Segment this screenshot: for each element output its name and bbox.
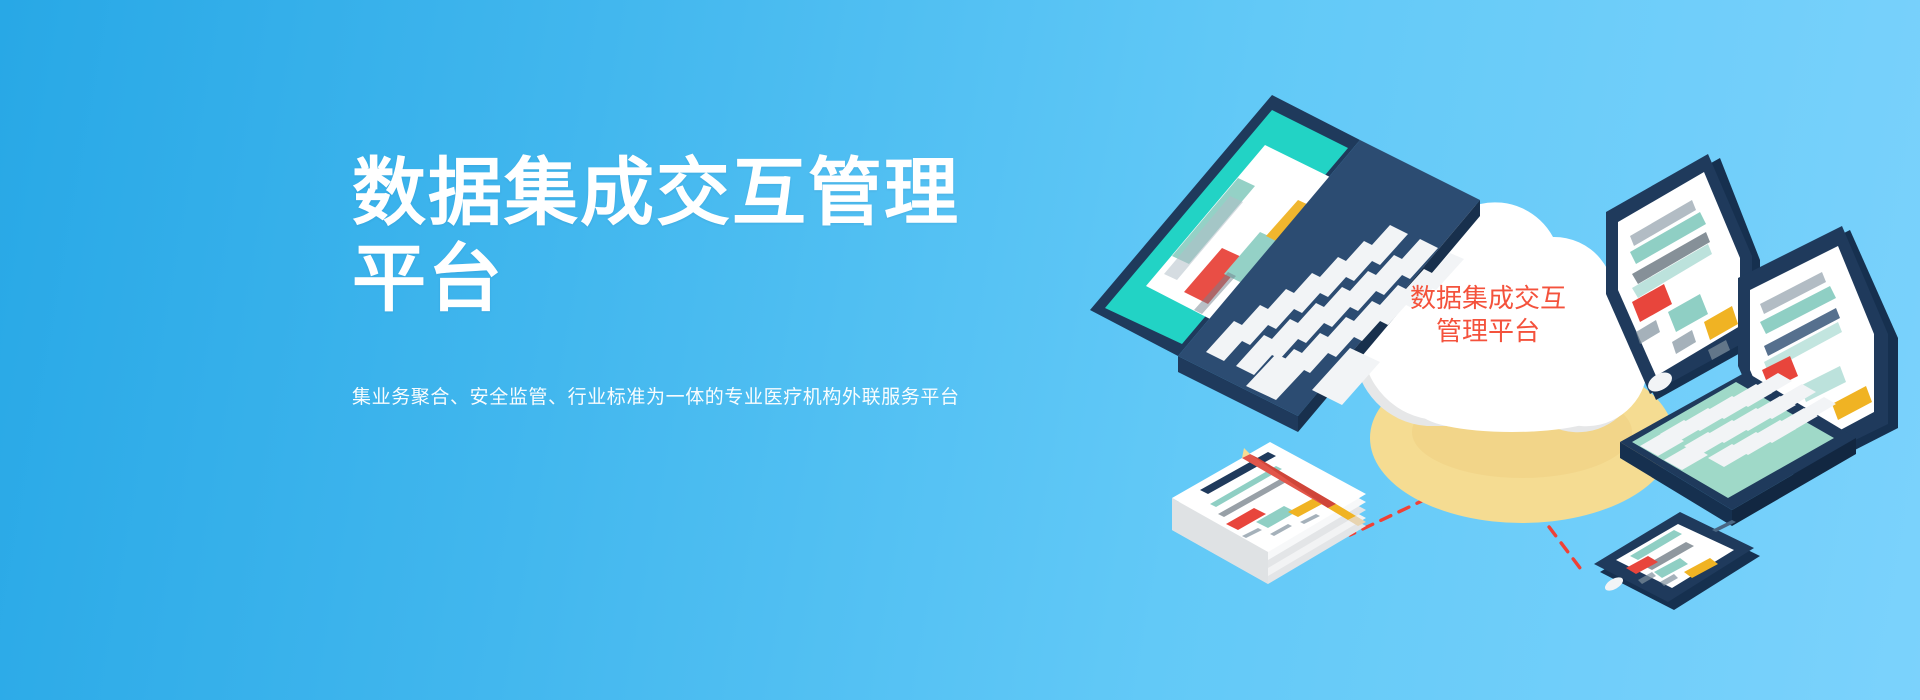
document-stack: [1172, 442, 1366, 584]
hero-banner: 数据集成交互管理 平台 集业务聚合、安全监管、行业标准为一体的专业医疗机构外联服…: [0, 0, 1920, 700]
hero-illustration: 数据集成交互 管理平台: [1060, 60, 1900, 580]
smartphone-device: [1594, 512, 1760, 610]
hero-text-block: 数据集成交互管理 平台 集业务聚合、安全监管、行业标准为一体的专业医疗机构外联服…: [352, 150, 1052, 412]
page-subtitle: 集业务聚合、安全监管、行业标准为一体的专业医疗机构外联服务平台: [352, 384, 1052, 412]
page-title: 数据集成交互管理 平台: [352, 150, 1052, 322]
